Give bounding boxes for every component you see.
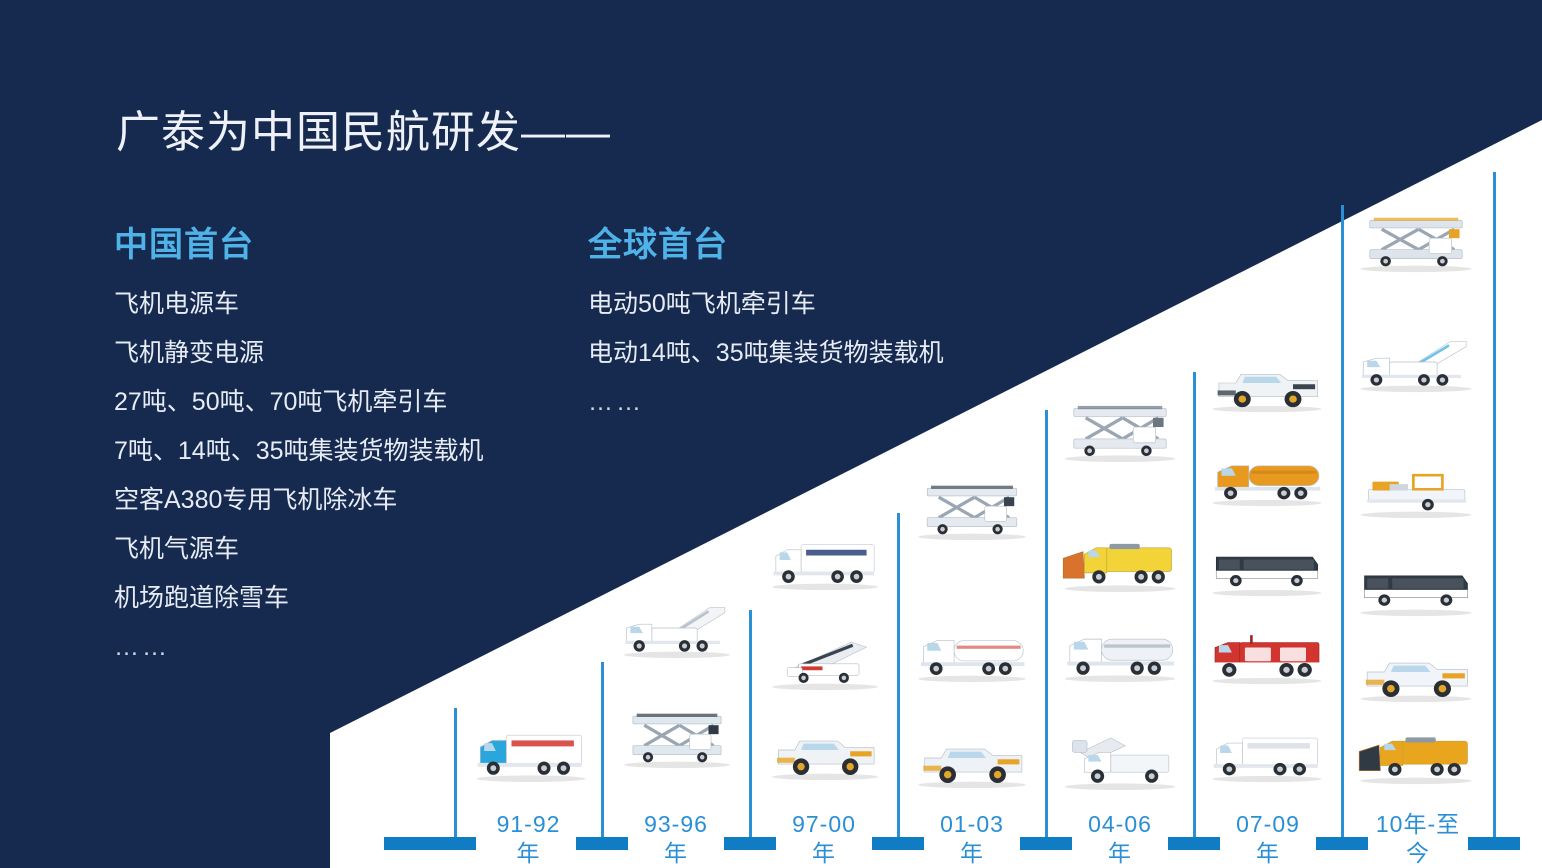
timeline-period-years: 97-00: [764, 810, 884, 839]
slide-canvas: 91-92年93-96年97-00年01-03年04-06年07-09年10年-…: [0, 0, 1542, 868]
timeline-period-unit: 年: [1060, 839, 1180, 868]
timeline-divider-line: [897, 513, 900, 850]
timeline-divider-line: [749, 610, 752, 850]
timeline-period-years: 04-06: [1060, 810, 1180, 839]
timeline-period-label: 01-03年: [912, 810, 1032, 868]
timeline-divider-line: [1045, 410, 1048, 850]
timeline-period-years: 93-96: [616, 810, 736, 839]
timeline-period-unit: 今: [1358, 839, 1478, 868]
timeline: 91-92年93-96年97-00年01-03年04-06年07-09年10年-…: [0, 0, 1542, 868]
timeline-period-label: 07-09年: [1208, 810, 1328, 868]
timeline-period-label: 97-00年: [764, 810, 884, 868]
timeline-period-years: 91-92: [469, 810, 589, 839]
timeline-period-unit: 年: [469, 839, 589, 868]
timeline-period-years: 10年-至: [1358, 810, 1478, 839]
timeline-period-label: 91-92年: [469, 810, 589, 868]
timeline-tick: [384, 837, 476, 850]
timeline-period-label: 10年-至今: [1358, 810, 1478, 868]
timeline-divider-line: [1193, 372, 1196, 850]
timeline-divider-line: [601, 662, 604, 850]
timeline-divider-line: [454, 708, 457, 850]
timeline-period-unit: 年: [1208, 839, 1328, 868]
timeline-period-unit: 年: [764, 839, 884, 868]
timeline-period-unit: 年: [616, 839, 736, 868]
timeline-period-label: 93-96年: [616, 810, 736, 868]
timeline-divider-line: [1493, 172, 1496, 850]
timeline-period-unit: 年: [912, 839, 1032, 868]
timeline-period-years: 07-09: [1208, 810, 1328, 839]
timeline-period-label: 04-06年: [1060, 810, 1180, 868]
timeline-divider-line: [1341, 205, 1344, 850]
timeline-period-years: 01-03: [912, 810, 1032, 839]
